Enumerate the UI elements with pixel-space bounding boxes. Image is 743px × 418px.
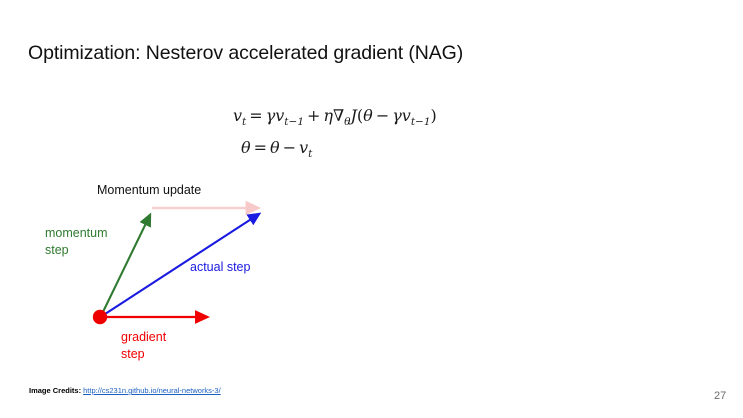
slide-canvas: Optimization: Nesterov accelerated gradi…: [0, 0, 743, 418]
eq2-theta: θ: [241, 138, 251, 157]
image-credits-label: Image Credits:: [29, 386, 81, 395]
image-credits: Image Credits:http://cs231n.github.io/ne…: [29, 386, 221, 395]
page-number: 27: [714, 390, 726, 402]
label-momentum-update: Momentum update: [97, 183, 201, 197]
eq2-equals: =: [251, 138, 270, 157]
label-momentum-step-line2: step: [45, 242, 108, 259]
label-gradient-step-line2: step: [121, 346, 166, 363]
eq1-gamma: γ: [266, 106, 276, 125]
label-actual-step: actual step: [190, 260, 250, 274]
page-title: Optimization: Nesterov accelerated gradi…: [28, 42, 463, 65]
eq2-minus: −: [280, 138, 299, 157]
label-gradient-step: gradient step: [121, 329, 166, 363]
nag-vector-diagram: Momentum update momentum step actual ste…: [0, 175, 330, 375]
label-momentum-step-line1: momentum: [45, 225, 108, 242]
eq2-v: v: [299, 138, 308, 157]
eq1-gamma2: γ: [392, 106, 402, 125]
eq1-nabla-icon: ∇: [333, 106, 344, 125]
eq1-v2-sub: t−1: [284, 116, 304, 128]
eq2-theta2: θ: [270, 138, 280, 157]
eq1-v2: v: [275, 106, 284, 125]
eq1-v: v: [233, 106, 242, 125]
eq1-v3-sub: t−1: [411, 116, 431, 128]
label-momentum-step: momentum step: [45, 225, 108, 259]
equation-line-2: θ=θ−vt: [233, 135, 437, 167]
eq1-minus: −: [373, 106, 392, 125]
equation-line-1: vt=γvt−1+η∇θJ(θ−γvt−1): [233, 103, 437, 135]
origin-dot: [93, 310, 107, 324]
eq1-eta: η: [323, 106, 333, 125]
eq2-v-sub: t: [308, 148, 312, 160]
label-gradient-step-line1: gradient: [121, 329, 166, 346]
eq1-close-paren: ): [431, 106, 437, 125]
eq1-equals: =: [246, 106, 265, 125]
eq1-v3: v: [402, 106, 411, 125]
equation-block: vt=γvt−1+η∇θJ(θ−γvt−1) θ=θ−vt: [233, 103, 437, 167]
eq1-plus: +: [304, 106, 323, 125]
eq1-theta: θ: [363, 106, 373, 125]
image-credits-link[interactable]: http://cs231n.github.io/neural-networks-…: [83, 386, 221, 395]
